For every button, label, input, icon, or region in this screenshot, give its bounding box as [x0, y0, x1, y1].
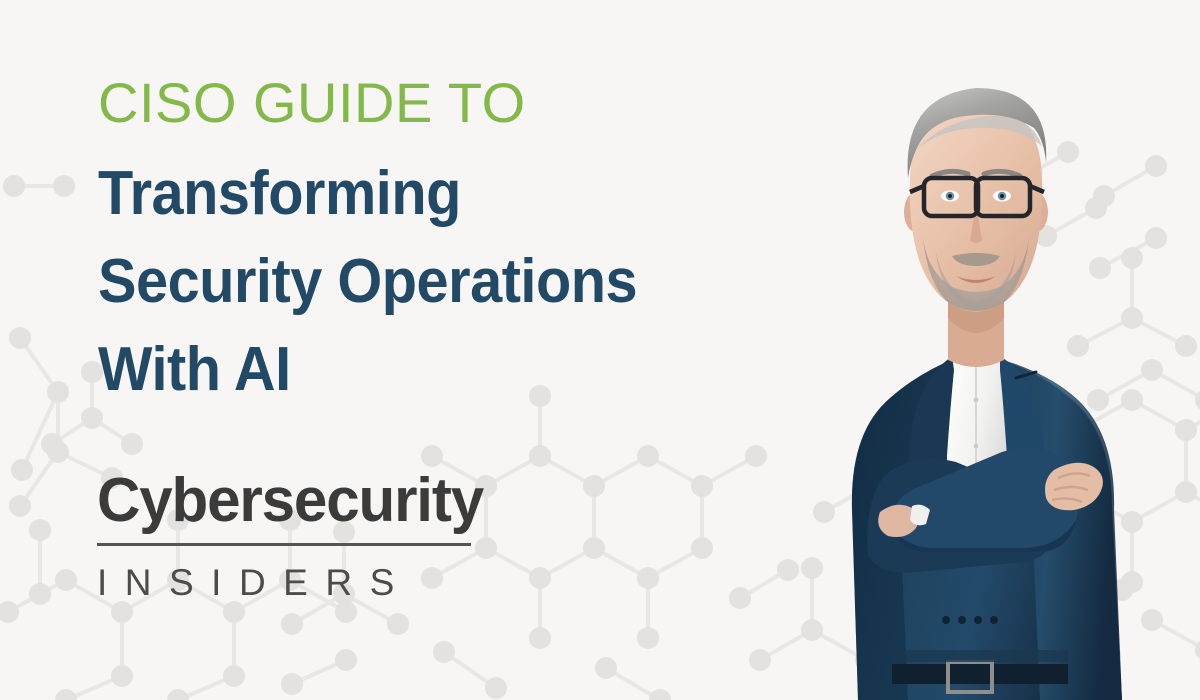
page-title: Transforming Security Operations With AI — [98, 150, 749, 414]
headline-block: CISO GUIDE TO Transforming Security Oper… — [98, 72, 798, 414]
logo-wordmark: Cybersecurity — [97, 465, 460, 537]
logo-subtitle: INSIDERS — [97, 560, 471, 606]
businessman-portrait-photo — [740, 0, 1200, 700]
title-line-1: Transforming — [98, 150, 749, 238]
title-line-3: With AI — [98, 326, 749, 414]
head — [904, 88, 1048, 312]
title-line-2: Security Operations — [98, 238, 749, 326]
logo-divider-rule — [97, 543, 471, 546]
eyebrow-text: CISO GUIDE TO — [98, 72, 798, 134]
cover-canvas: CISO GUIDE TO Transforming Security Oper… — [0, 0, 1200, 700]
cybersecurity-insiders-logo: Cybersecurity INSIDERS — [97, 465, 471, 606]
